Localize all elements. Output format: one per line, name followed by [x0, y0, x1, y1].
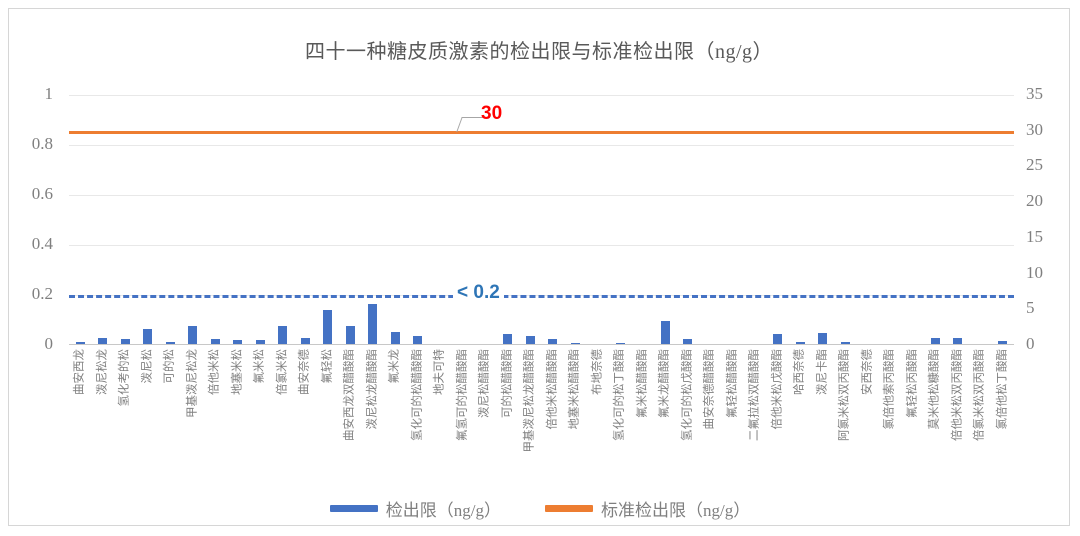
category-label-slot: 泼尼松 — [137, 349, 160, 479]
category-label: 倍氯米松双丙酸酯 — [975, 349, 987, 441]
category-label-slot: 曲安奈德醋酸酯 — [699, 349, 722, 479]
category-label: 地塞米松 — [232, 349, 244, 395]
category-label: 氟米龙醋酸酯 — [660, 349, 672, 418]
category-label-slot: 氢化考的松 — [114, 349, 137, 479]
category-label: 氯倍他索丙酸酯 — [885, 349, 897, 430]
category-label-slot: 氟氢可的松醋酸酯 — [452, 349, 475, 479]
category-label-slot: 莫米他松糠酸酯 — [924, 349, 947, 479]
category-label-slot: 氟米龙醋酸酯 — [654, 349, 677, 479]
category-label-slot: 布地奈德 — [587, 349, 610, 479]
category-label: 可的松醋酸酯 — [502, 349, 514, 418]
right-axis-tick: 15 — [1026, 227, 1043, 247]
category-label: 曲安奈德醋酸酯 — [705, 349, 717, 430]
bar — [661, 321, 670, 345]
category-label: 莫米他松糠酸酯 — [930, 349, 942, 430]
bar — [143, 329, 152, 345]
category-label: 氢化可的松戊酸酯 — [682, 349, 694, 441]
category-label-slot: 安西奈德 — [857, 349, 880, 479]
category-label-slot: 氢化可的松丁酸酯 — [609, 349, 632, 479]
category-label-slot: 二氟拉松双醋酸酯 — [744, 349, 767, 479]
category-label-slot: 哈西奈德 — [789, 349, 812, 479]
category-label: 氢化可的松丁酸酯 — [615, 349, 627, 441]
category-label-slot: 倍他米松双丙酸酯 — [947, 349, 970, 479]
bar — [368, 304, 377, 345]
right-axis-tick: 35 — [1026, 84, 1043, 104]
category-label: 氟米松 — [255, 349, 267, 384]
category-label: 可的松 — [165, 349, 177, 384]
category-label: 曲安奈德 — [300, 349, 312, 395]
category-label: 氟氢可的松醋酸酯 — [457, 349, 469, 441]
left-axis-tick: 0.6 — [32, 184, 53, 204]
category-label-slot: 阿氯米松双丙酸酯 — [834, 349, 857, 479]
legend-label: 检出限（ng/g） — [386, 496, 501, 521]
category-label-slot: 可的松醋酸酯 — [497, 349, 520, 479]
category-label-slot: 泼尼卡酯 — [812, 349, 835, 479]
category-label: 阿氯米松双丙酸酯 — [840, 349, 852, 441]
category-label: 氟轻松醋酸酯 — [727, 349, 739, 418]
category-label-slot: 氟米龙 — [384, 349, 407, 479]
chart-container: 四十一种糖皮质激素的检出限与标准检出限（ng/g） 10.80.60.40.20… — [8, 8, 1070, 526]
bar — [323, 310, 332, 345]
category-label: 泼尼卡酯 — [817, 349, 829, 395]
category-label: 倍氯米松 — [277, 349, 289, 395]
legend-swatch — [330, 505, 378, 512]
category-label: 泼尼松龙 — [97, 349, 109, 395]
category-label-slot: 甲基泼尼松龙醋酸酯 — [519, 349, 542, 479]
category-label: 曲安西龙 — [75, 349, 87, 395]
chart-title: 四十一种糖皮质激素的检出限与标准检出限（ng/g） — [9, 35, 1069, 64]
right-axis-tick: 25 — [1026, 155, 1043, 175]
category-label-slot: 氢化可的松醋酸酯 — [407, 349, 430, 479]
right-axis-tick: 30 — [1026, 120, 1043, 140]
category-label: 氯倍他松丁酸酯 — [997, 349, 1009, 430]
left-axis-tick: 1 — [45, 84, 54, 104]
category-label-slot: 倍他米松 — [204, 349, 227, 479]
category-label: 泼尼松 — [142, 349, 154, 384]
legend-item[interactable]: 检出限（ng/g） — [330, 496, 501, 521]
left-axis-tick: 0 — [45, 334, 54, 354]
category-label: 甲基泼尼松龙 — [187, 349, 199, 418]
legend-label: 标准检出限（ng/g） — [601, 496, 750, 521]
left-axis-tick: 0.2 — [32, 284, 53, 304]
category-label-slot: 氟米松醋酸酯 — [632, 349, 655, 479]
category-label-slot: 氯倍他松丁酸酯 — [992, 349, 1015, 479]
category-label-slot: 曲安西龙双醋酸酯 — [339, 349, 362, 479]
category-axis-labels: 曲安西龙泼尼松龙氢化考的松泼尼松可的松甲基泼尼松龙倍他米松地塞米松氟米松倍氯米松… — [69, 349, 1014, 479]
category-label-slot: 氟米松 — [249, 349, 272, 479]
category-label: 氟米松醋酸酯 — [637, 349, 649, 418]
category-label: 泼尼松醋酸酯 — [480, 349, 492, 418]
category-label: 氟轻松丙酸酯 — [907, 349, 919, 418]
right-axis-tick: 10 — [1026, 263, 1043, 283]
category-label: 哈西奈德 — [795, 349, 807, 395]
category-label-slot: 可的松 — [159, 349, 182, 479]
bar — [278, 326, 287, 345]
category-label-slot: 氟轻松 — [317, 349, 340, 479]
annotation-reference-limit: < 0.2 — [453, 282, 504, 304]
legend-swatch — [545, 505, 593, 512]
left-axis-tick: 0.8 — [32, 134, 53, 154]
right-axis-tick: 20 — [1026, 191, 1043, 211]
category-label: 布地奈德 — [592, 349, 604, 395]
category-label: 曲安西龙双醋酸酯 — [345, 349, 357, 441]
category-label: 倍他米松醋酸酯 — [547, 349, 559, 430]
category-label-slot: 泼尼松龙醋酸酯 — [362, 349, 385, 479]
category-label-slot: 氟轻松醋酸酯 — [722, 349, 745, 479]
category-label: 氟米龙 — [390, 349, 402, 384]
category-label: 氢化可的松醋酸酯 — [412, 349, 424, 441]
category-label: 安西奈德 — [862, 349, 874, 395]
category-label: 氟轻松 — [322, 349, 334, 384]
plot-area: 30 < 0.2 — [69, 95, 1014, 345]
category-label: 倍他米松 — [210, 349, 222, 395]
category-label: 地塞米松醋酸酯 — [570, 349, 582, 430]
bar — [188, 326, 197, 345]
category-label-slot: 倍氯米松 — [272, 349, 295, 479]
right-axis-tick: 0 — [1026, 334, 1035, 354]
category-label-slot: 氢化可的松戊酸酯 — [677, 349, 700, 479]
category-label-slot: 泼尼松龙 — [92, 349, 115, 479]
standard-limit-line — [69, 131, 1014, 134]
bar — [346, 326, 355, 345]
category-axis-line — [69, 344, 1014, 345]
category-label-slot: 氯倍他索丙酸酯 — [879, 349, 902, 479]
category-label: 氢化考的松 — [120, 349, 132, 407]
reference-line-dashed — [69, 295, 1014, 298]
annotation-standard-limit: 30 — [481, 103, 502, 125]
category-label-slot: 泼尼松醋酸酯 — [474, 349, 497, 479]
category-label-slot: 地塞米松 — [227, 349, 250, 479]
category-label: 地夫可特 — [435, 349, 447, 395]
category-label-slot: 曲安奈德 — [294, 349, 317, 479]
category-label-slot: 甲基泼尼松龙 — [182, 349, 205, 479]
left-axis-tick: 0.4 — [32, 234, 53, 254]
category-label: 二氟拉松双醋酸酯 — [750, 349, 762, 441]
category-label: 甲基泼尼松龙醋酸酯 — [525, 349, 537, 453]
category-label-slot: 倍他米松戊酸酯 — [767, 349, 790, 479]
category-label-slot: 氟轻松丙酸酯 — [902, 349, 925, 479]
chart-legend: 检出限（ng/g）标准检出限（ng/g） — [9, 496, 1071, 521]
category-label-slot: 倍他米松醋酸酯 — [542, 349, 565, 479]
category-label-slot: 地塞米松醋酸酯 — [564, 349, 587, 479]
legend-item[interactable]: 标准检出限（ng/g） — [545, 496, 750, 521]
right-axis-tick: 5 — [1026, 298, 1035, 318]
category-label-slot: 地夫可特 — [429, 349, 452, 479]
category-label: 倍他米松戊酸酯 — [772, 349, 784, 430]
category-label: 泼尼松龙醋酸酯 — [367, 349, 379, 430]
category-label-slot: 曲安西龙 — [69, 349, 92, 479]
category-label: 倍他米松双丙酸酯 — [952, 349, 964, 441]
category-label-slot: 倍氯米松双丙酸酯 — [969, 349, 992, 479]
